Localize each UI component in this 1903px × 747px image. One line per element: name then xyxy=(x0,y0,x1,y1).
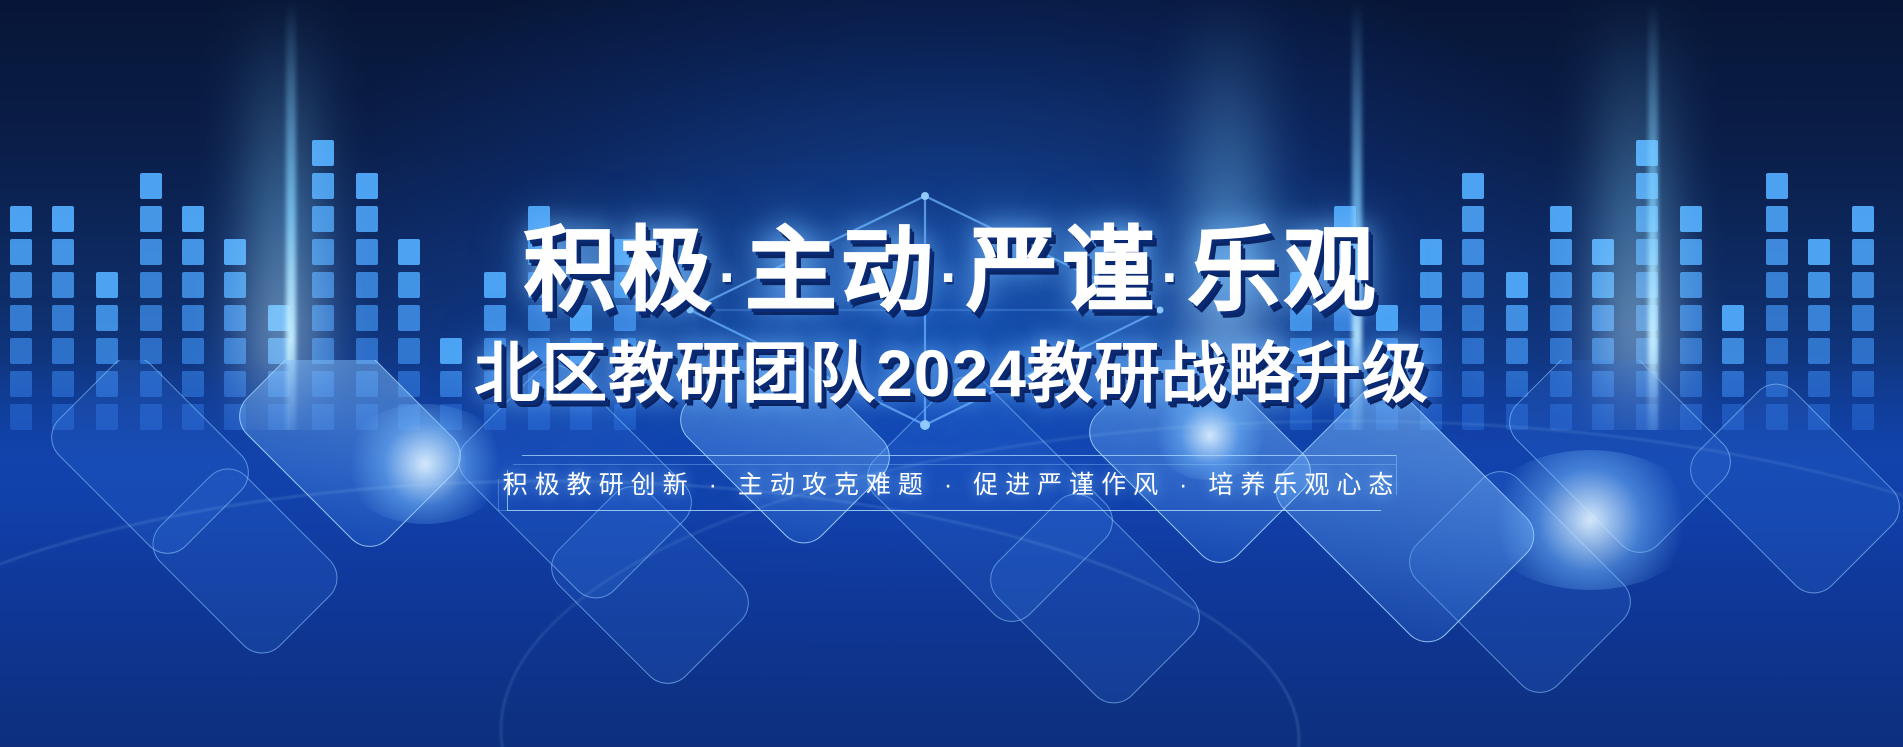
main-title-separator-dot: · xyxy=(715,249,744,307)
tagline-bar: 积极教研创新 · 主动攻克难题 · 促进严谨作风 · 培养乐观心态 xyxy=(507,455,1397,511)
main-title-word: 乐观 xyxy=(1188,220,1380,322)
main-title-separator-dot: · xyxy=(937,249,966,307)
main-title-separator-dot: · xyxy=(1158,249,1187,307)
main-title: 积极·主动·严谨·乐观 xyxy=(0,196,1903,329)
tagline-text: 积极教研创新 · 主动攻克难题 · 促进严谨作风 · 培养乐观心态 xyxy=(507,455,1397,511)
main-title-word: 积极 xyxy=(523,220,715,322)
headline-group: 积极·主动·严谨·乐观 北区教研团队2024教研战略升级 积极教研创新 · 主动… xyxy=(0,0,1903,747)
main-title-word: 主动 xyxy=(745,220,937,322)
sub-title: 北区教研团队2024教研战略升级 xyxy=(0,320,1903,416)
main-title-word: 严谨 xyxy=(966,220,1158,322)
banner-root: 积极·主动·严谨·乐观 北区教研团队2024教研战略升级 积极教研创新 · 主动… xyxy=(0,0,1903,747)
